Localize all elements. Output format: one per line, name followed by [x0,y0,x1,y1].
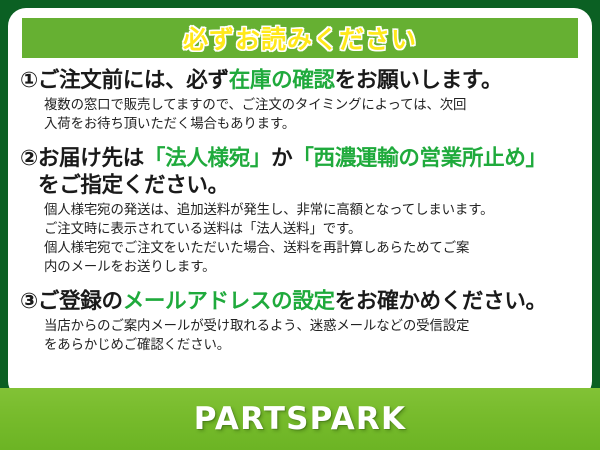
item-3-heading-highlight: メールアドレスの設定 [123,289,335,314]
brand-logo-text: PARTSPARK [194,401,406,437]
item-3-body-line-1: 当店からのご案内メールが受け取れるよう、迷惑メールなどの受信設定 [44,317,582,336]
item-2-heading-pre: お届け先は [38,146,144,171]
notice-item-2-body: 個人様宅宛の発送は、追加送料が発生し、非常に高額となってしまいます。 ご注文時に… [44,201,582,277]
notice-panel: 必ずお読みください ①ご注文前には、必ず在庫の確認をお願いします。 複数の窓口で… [8,8,592,399]
notice-item-3-body: 当店からのご案内メールが受け取れるよう、迷惑メールなどの受信設定 をあらかじめご… [44,317,582,355]
item-2-body-line-4: 内のメールをお送りします。 [44,258,582,277]
notice-banner: 必ずお読みください ①ご注文前には、必ず在庫の確認をお願いします。 複数の窓口で… [0,0,600,450]
item-1-marker: ① [20,68,38,93]
notice-item-1: ①ご注文前には、必ず在庫の確認をお願いします。 複数の窓口で販売してますので、ご… [20,68,582,134]
notice-item-2-heading: ②お届け先は「法人様宛」か「西濃運輸の営業所止め」をご指定ください。 [20,146,582,198]
item-3-body-line-2: をあらかじめご確認ください。 [44,336,582,355]
item-3-marker: ③ [20,289,38,314]
item-2-body-line-2: ご注文時に表示されている送料は「法人送料」です。 [44,220,582,239]
item-3-heading-pre: ご登録の [38,289,123,314]
item-1-body-line-1: 複数の窓口で販売してますので、ご注文のタイミングによっては、次回 [44,96,582,115]
notice-footer: PARTSPARK [0,388,600,450]
notice-item-1-body: 複数の窓口で販売してますので、ご注文のタイミングによっては、次回 入荷をお待ち頂… [44,96,582,134]
item-1-heading-pre: ご注文前には、必ず [38,68,229,93]
notice-item-3-heading: ③ご登録のメールアドレスの設定をお確かめください。 [20,289,582,315]
item-2-heading-mid: か [271,146,292,171]
item-2-body-line-3: 個人様宅宛でご注文をいただいた場合、送料を再計算しあらためてご案 [44,239,582,258]
page-title: 必ずお読みください [183,20,417,56]
item-2-heading-highlight: 「法人様宛」 [144,146,271,171]
item-2-heading-highlight-2: 「西濃運輸の営業所止め」 [292,146,546,171]
item-2-marker: ② [20,146,38,171]
notice-item-2: ②お届け先は「法人様宛」か「西濃運輸の営業所止め」をご指定ください。 個人様宅宛… [20,146,582,277]
notice-title-bar: 必ずお読みください [22,18,578,58]
notice-item-1-heading: ①ご注文前には、必ず在庫の確認をお願いします。 [20,68,582,94]
item-1-body-line-2: 入荷をお待ち頂いただく場合もあります。 [44,115,582,134]
item-2-heading-line-2: をご指定ください。 [38,173,582,199]
notice-item-3: ③ご登録のメールアドレスの設定をお確かめください。 当店からのご案内メールが受け… [20,289,582,355]
item-1-heading-highlight: 在庫の確認 [229,68,335,93]
notice-content: ①ご注文前には、必ず在庫の確認をお願いします。 複数の窓口で販売してますので、ご… [8,64,592,357]
item-1-heading-post: をお願いします。 [335,68,502,93]
item-3-heading-post: をお確かめください。 [335,289,547,314]
item-2-body-line-1: 個人様宅宛の発送は、追加送料が発生し、非常に高額となってしまいます。 [44,201,582,220]
